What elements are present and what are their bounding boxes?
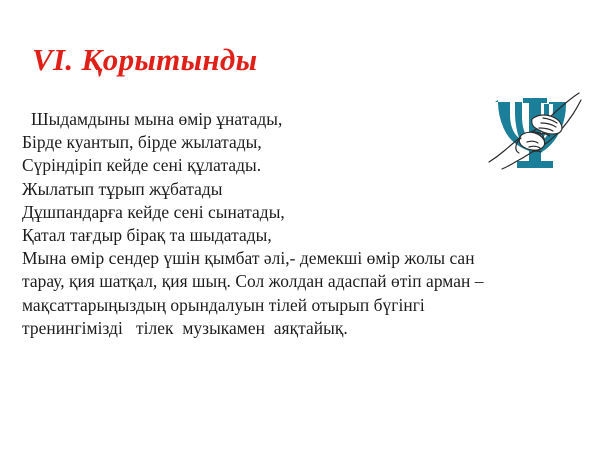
poem-line: Қатал тағдыр бірақ та шыдатады,: [22, 224, 567, 247]
poem-line: тренингімізді тілек музыкамен аяқтайық.: [22, 317, 567, 340]
poem-line: мақсаттарыңыздың орындалуын тілей отырып…: [22, 294, 567, 317]
poem-line: Дұшпандарға кейде сені сынатады,: [22, 201, 567, 224]
poem-line: Мына өмір сендер үшін қымбат әлі,- демек…: [22, 247, 567, 270]
psi-clasped-hands-logo: [487, 90, 583, 180]
poem-line: тарау, қия шатқал, қия шың. Сол жолдан а…: [22, 270, 567, 293]
slide-canvas: VI. Қорытынды Шыдамдыны мына өмір ұнатад…: [0, 0, 600, 450]
poem-line: Бірде куантып, бірде жылатады,: [22, 131, 567, 154]
poem-line: Жылатып тұрып жұбатады: [22, 178, 567, 201]
page-title: VI. Қорытынды: [32, 41, 257, 79]
psi-clasped-hands-icon: [487, 90, 583, 180]
poem-text-block: Шыдамдыны мына өмір ұнатады, Бірде куант…: [22, 108, 567, 340]
poem-line: Сүріндіріп кейде сені құлатады.: [22, 154, 567, 177]
poem-line: Шыдамдыны мына өмір ұнатады,: [22, 108, 567, 131]
